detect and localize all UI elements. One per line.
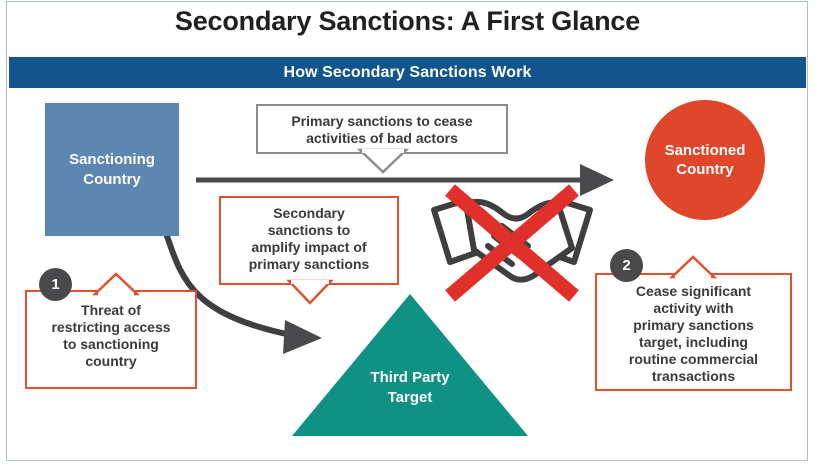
step-one-badge: 1 bbox=[39, 268, 72, 301]
sanctioning-country-label: Sanctioning Country bbox=[45, 103, 179, 236]
step-two-badge: 2 bbox=[610, 249, 643, 282]
callout-step-two: Cease significant activity with primary … bbox=[595, 273, 792, 391]
callout-step-one: Threat of restricting access to sanction… bbox=[25, 290, 197, 389]
sanctioning-country-node: Sanctioning Country bbox=[45, 103, 179, 236]
callout-step-two-text: Cease significant activity with primary … bbox=[597, 283, 790, 385]
callout-primary-sanctions-text: Primary sanctions to cease activities of… bbox=[258, 113, 506, 147]
arrow-sanctioning-to-sanctioned bbox=[196, 164, 614, 196]
page-title: Secondary Sanctions: A First Glance bbox=[0, 6, 815, 37]
step-two-badge-number: 2 bbox=[622, 257, 630, 274]
step-one-badge-number: 1 bbox=[51, 276, 59, 293]
third-party-target-node: Third Party Target bbox=[292, 294, 528, 436]
callout-step-one-text: Threat of restricting access to sanction… bbox=[27, 302, 195, 370]
third-party-target-label: Third Party Target bbox=[292, 368, 528, 409]
infographic-slide: Secondary Sanctions: A First Glance How … bbox=[0, 0, 815, 473]
callout-secondary-sanctions-text: Secondary sanctions to amplify impact of… bbox=[221, 205, 397, 273]
triangle-shape bbox=[292, 294, 528, 436]
section-bar: How Secondary Sanctions Work bbox=[9, 57, 806, 88]
callout-secondary-sanctions: Secondary sanctions to amplify impact of… bbox=[219, 196, 399, 285]
section-bar-label: How Secondary Sanctions Work bbox=[9, 57, 806, 88]
callout-primary-sanctions: Primary sanctions to cease activities of… bbox=[256, 104, 508, 154]
sanctioned-country-node: Sanctioned Country bbox=[645, 100, 765, 220]
diagram-stage: Sanctioning Country Sanctioned Country T… bbox=[0, 88, 815, 461]
sanctioned-country-label: Sanctioned Country bbox=[645, 100, 765, 220]
